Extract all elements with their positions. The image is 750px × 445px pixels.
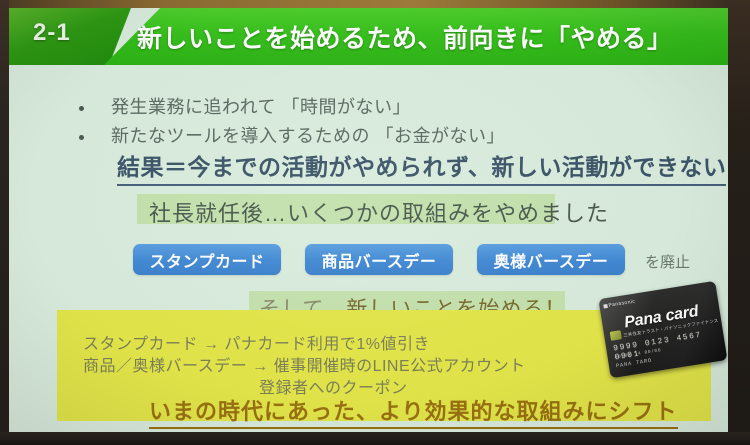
- pana-card-brand: Panasonic: [608, 299, 636, 309]
- stopped-item-stamp-card[interactable]: スタンプカード: [133, 244, 281, 275]
- section-number-label: 2-1: [33, 19, 71, 47]
- panasonic-logo-icon: [603, 304, 608, 309]
- callout-line: 商品／奥様バースデー → 催事開催時のLINE公式アカウント: [83, 352, 526, 376]
- bullet-item: 発生業務に追われて 「時間がない」: [111, 93, 411, 119]
- presentation-slide: 2-1 新しいことを始めるため、前向きに「やめる」 発生業務に追われて 「時間が…: [9, 8, 728, 432]
- callout-conclusion: いまの時代にあった、より効果的な取組みにシフト: [149, 394, 678, 429]
- pana-card-face: Panasonic Pana card 三井住友トラスト・パナソニックファイナン…: [598, 281, 727, 378]
- slide-header: 2-1 新しいことを始めるため、前向きに「やめる」: [9, 8, 728, 65]
- photo-right-edge: [728, 0, 750, 445]
- card-chip-icon: [610, 330, 622, 341]
- bullet-marker: [79, 106, 84, 111]
- result-statement: 結果＝今までの活動がやめられず、新しい活動ができない: [117, 148, 726, 186]
- slide-title-text: 新しいことを始めるため、前向きに「やめる」: [137, 19, 673, 55]
- pana-card-photo: Panasonic Pana card 三井住友トラスト・パナソニックファイナン…: [598, 280, 728, 392]
- projector-screen: 2-1 新しいことを始めるため、前向きに「やめる」 発生業務に追われて 「時間が…: [0, 0, 750, 445]
- stopped-item-wife-birthday[interactable]: 奥様バースデー: [477, 244, 625, 275]
- stopped-statement: 社長就任後…いくつかの取組みをやめました: [149, 196, 609, 228]
- photo-left-edge: [0, 0, 9, 445]
- stopped-suffix-label: を廃止: [645, 251, 690, 272]
- photo-bottom-edge: [0, 432, 750, 445]
- stopped-item-product-birthday[interactable]: 商品バースデー: [305, 244, 453, 275]
- bullet-item: 新たなツールを導入するための 「お金がない」: [111, 122, 505, 148]
- bullet-marker: [79, 135, 84, 140]
- callout-line: スタンプカード → パナカード利用で1%値引き: [83, 330, 430, 354]
